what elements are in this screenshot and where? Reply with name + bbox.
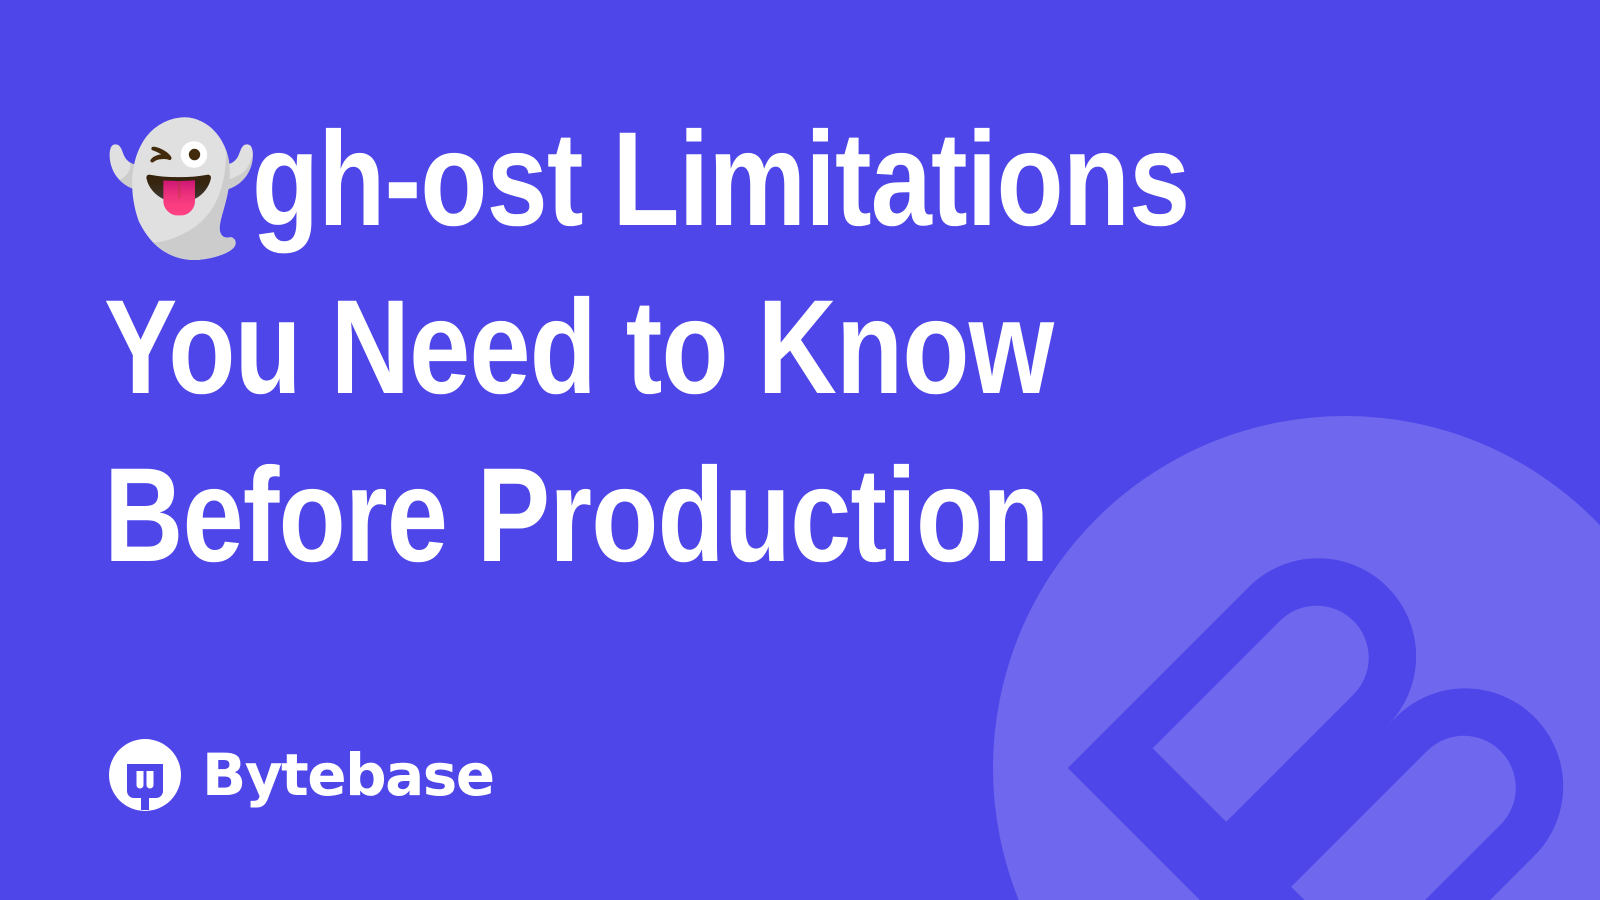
ghost-emoji: 👻 <box>104 127 258 251</box>
headline-line-1: 👻gh-ost Limitations <box>104 96 1170 264</box>
page-title: 👻gh-ost Limitations You Need to Know Bef… <box>104 96 1170 600</box>
bytebase-logo-icon <box>108 738 182 812</box>
brand-lockup: Bytebase <box>108 738 494 812</box>
brand-name: Bytebase <box>202 746 494 804</box>
headline-line-1-text: gh-ost Limitations <box>252 105 1189 254</box>
headline-line-2: You Need to Know <box>104 264 1170 432</box>
og-card: 👻gh-ost Limitations You Need to Know Bef… <box>0 0 1600 900</box>
headline-line-3: Before Production <box>104 432 1170 600</box>
